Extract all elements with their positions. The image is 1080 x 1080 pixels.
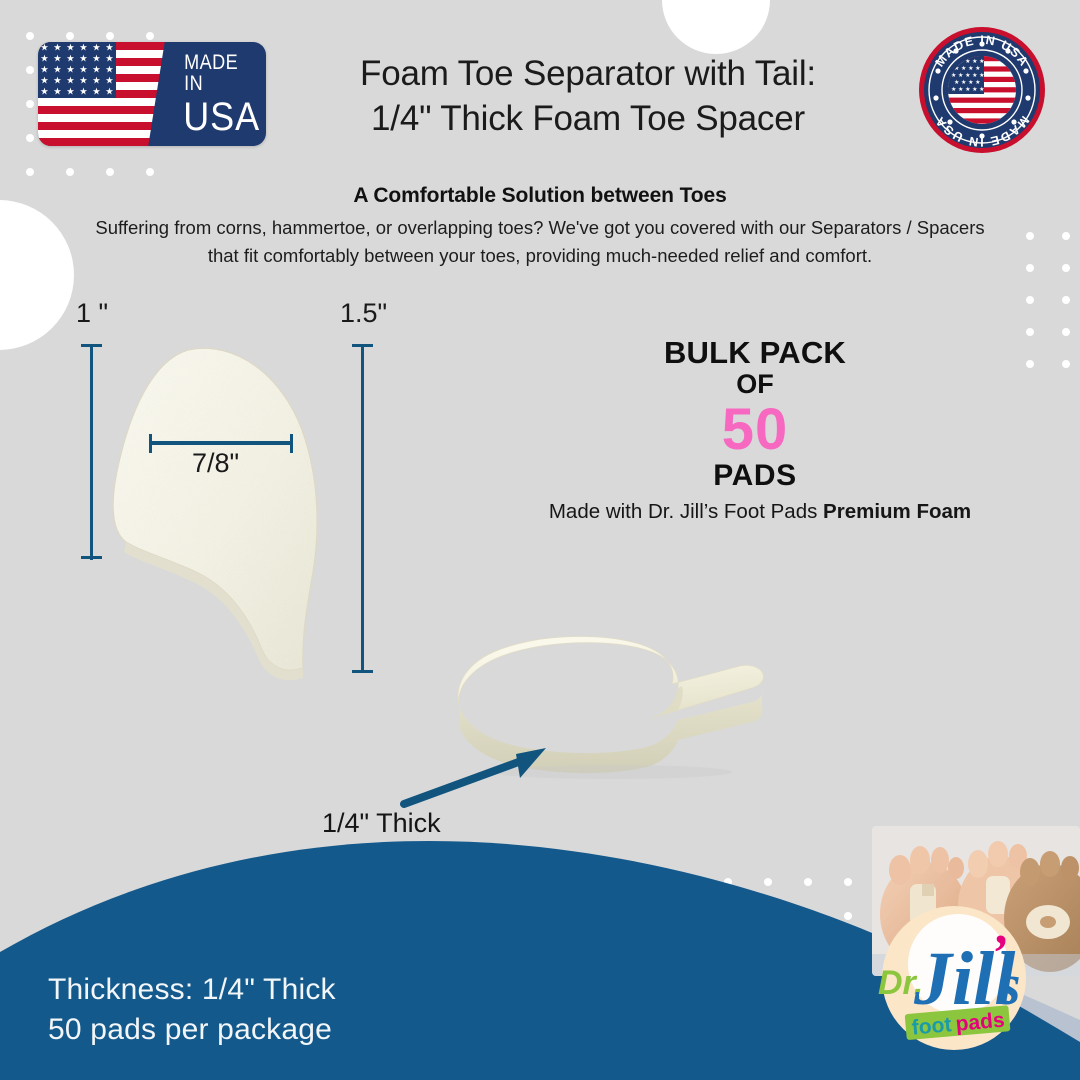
foam-pad-front-view-image — [96, 338, 386, 690]
bottom-banner-line-1: Thickness: 1/4" Thick — [48, 970, 336, 1010]
infographic-canvas: ★★★★★★ ★★★★★★ ★★★★★★ ★★★★★★ ★★★★★★ MADE … — [0, 0, 1080, 1080]
bottom-banner-line-2: 50 pads per package — [48, 1010, 336, 1050]
dimension-line-height-right — [361, 346, 364, 672]
thickness-callout-arrow-icon — [398, 742, 558, 810]
dimension-cap-left-bottom — [81, 556, 102, 559]
svg-text:★ ★ ★ ★: ★ ★ ★ ★ — [954, 65, 981, 72]
dr-jills-foot-pads-logo: Dr. Jill ’ s foot pads — [862, 898, 1040, 1070]
made-in-usa-seal-icon: ★ ★ ★ ★ ★ ★ ★ ★ ★ ★ ★ ★ ★ ★ ★ ★ ★ ★ ★ ★ … — [918, 26, 1046, 154]
flag-canton: ★★★★★★ ★★★★★★ ★★★★★★ ★★★★★★ ★★★★★★ — [38, 42, 116, 98]
premium-foam-prefix: Made with Dr. Jill’s Foot Pads — [549, 500, 823, 523]
dimension-cap-width-right — [290, 434, 293, 453]
title-line-1: Foam Toe Separator with Tail: — [268, 52, 908, 97]
bottom-banner-text: Thickness: 1/4" Thick 50 pads per packag… — [48, 970, 336, 1050]
page-title: Foam Toe Separator with Tail: 1/4" Thick… — [268, 52, 908, 142]
thickness-callout-label: 1/4" Thick — [322, 808, 441, 839]
title-line-2: 1/4" Thick Foam Toe Spacer — [268, 97, 908, 142]
premium-foam-bold: Premium Foam — [823, 500, 971, 523]
svg-text:★ ★ ★ ★ ★: ★ ★ ★ ★ ★ — [951, 86, 985, 93]
intro-subheading: A Comfortable Solution between Toes — [40, 184, 1040, 208]
bulk-pack-line-1: BULK PACK — [560, 336, 950, 369]
intro-paragraph: Suffering from corns, hammertoe, or over… — [28, 214, 1052, 270]
intro-paragraph-line-2: that fit comfortably between your toes, … — [28, 242, 1052, 270]
dimension-label-height-left: 1 " — [76, 298, 108, 329]
dimension-cap-right-bottom — [352, 670, 373, 673]
bulk-pack-block: BULK PACK OF 50 PADS — [560, 336, 950, 492]
logo-pads-text: pads — [955, 1009, 1006, 1036]
intro-paragraph-line-1: Suffering from corns, hammertoe, or over… — [28, 214, 1052, 242]
svg-text:★ ★ ★ ★ ★: ★ ★ ★ ★ ★ — [951, 72, 985, 79]
logo-foot-text: foot — [911, 1013, 953, 1039]
badge-usa-label: USA — [184, 97, 261, 137]
dimension-line-width — [149, 441, 293, 445]
bulk-pack-count: 50 — [560, 400, 950, 459]
decor-circle-top — [662, 0, 770, 54]
svg-text:★ ★ ★ ★: ★ ★ ★ ★ — [954, 79, 981, 86]
dimension-label-height-right: 1.5" — [340, 298, 387, 329]
dimension-label-width: 7/8" — [192, 448, 239, 479]
dimension-line-height-left — [90, 346, 93, 560]
premium-foam-note: Made with Dr. Jill’s Foot Pads Premium F… — [500, 500, 1020, 524]
bulk-pack-line-4: PADS — [560, 459, 950, 492]
badge-made-in-label: MADE IN — [184, 52, 260, 94]
bulk-pack-line-2: OF — [560, 369, 950, 399]
made-in-usa-flag-badge: ★★★★★★ ★★★★★★ ★★★★★★ ★★★★★★ ★★★★★★ MADE … — [38, 42, 266, 146]
